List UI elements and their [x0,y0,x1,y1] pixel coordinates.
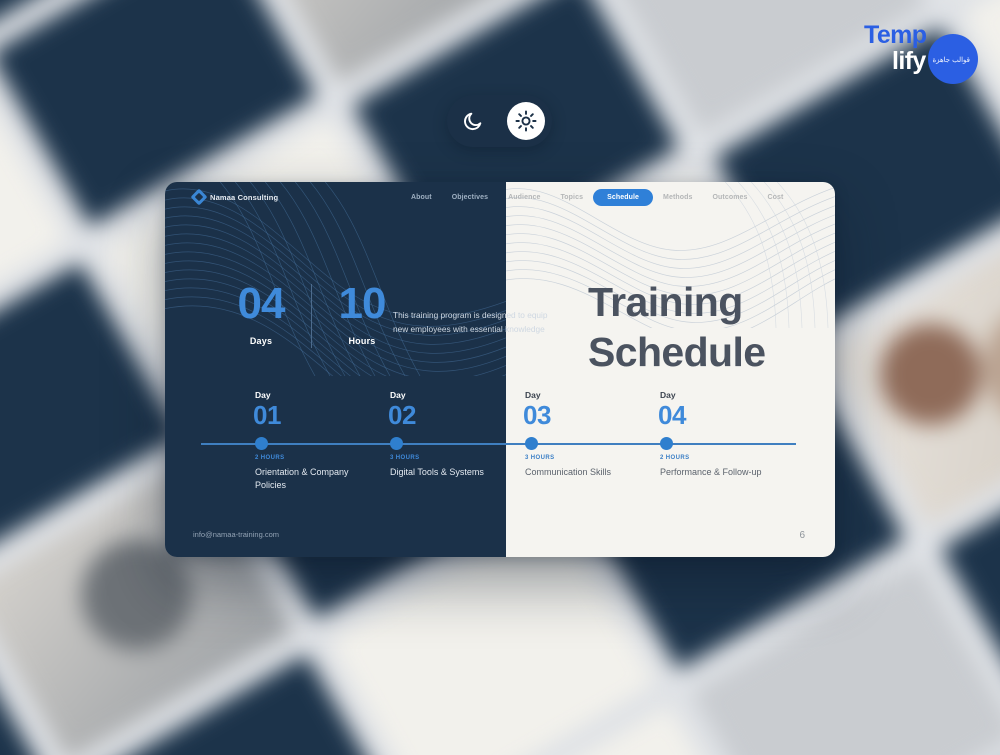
timeline-day-number: 03 [523,402,551,428]
theme-toggle[interactable] [447,95,552,147]
timeline-dot [660,437,673,450]
screenshot-stage: Temp lify قوالب جاهزة [0,0,1000,755]
slide-brand-name: Namaa Consulting [210,193,278,202]
timeline-title: Digital Tools & Systems [390,466,502,479]
moon-icon[interactable] [454,102,492,140]
timeline-title: Communication Skills [525,466,637,479]
stat-hours: 10 Hours [328,282,396,346]
timeline-day-number: 02 [388,402,416,428]
timeline-day-number: 04 [658,402,686,428]
timeline-day-label: Day [255,390,271,400]
slide-description: This training program is designed to equ… [393,308,563,336]
timeline-axis-light [506,443,796,445]
nav-item-audience[interactable]: Audience [498,190,550,205]
nav-item-outcomes[interactable]: Outcomes [703,190,758,205]
timeline-title: Orientation & Company Policies [255,466,367,491]
timeline-title: Performance & Follow-up [660,466,772,479]
stat-days-value: 04 [227,282,295,326]
slide-brand: Namaa Consulting [193,191,393,203]
nav-item-methods[interactable]: Methods [653,190,702,205]
timeline-hours: 2 HOURS [660,455,689,461]
page-title: Training Schedule [588,277,818,377]
slide-page-number: 6 [799,530,805,541]
stat-hours-value: 10 [328,282,396,326]
nav-item-cost[interactable]: Cost [758,190,794,205]
timeline-hours: 3 HOURS [525,455,554,461]
title-line-2: Schedule [588,329,765,375]
stat-days: 04 Days [227,282,295,346]
title-line-1: Training [588,279,743,325]
slide-contact-email[interactable]: info@namaa-training.com [193,530,279,539]
logo-word-top: Temp [864,21,926,50]
stat-hours-label: Hours [328,336,396,346]
timeline-day-label: Day [390,390,406,400]
timeline-day-label: Day [525,390,541,400]
timeline-hours: 2 HOURS [255,455,284,461]
logo-subtitle: قوالب جاهزة [932,56,970,64]
timeline-day-label: Day [660,390,676,400]
slide-stats: 04 Days 10 Hours [227,282,396,348]
timeline-dot [390,437,403,450]
sun-icon[interactable] [507,102,545,140]
nav-item-topics[interactable]: Topics [550,190,593,205]
timeline-hours: 3 HOURS [390,455,419,461]
stat-divider [311,284,312,348]
slide-navigation-bar: Namaa Consulting About Objectives Audien… [165,182,835,212]
nav-item-objectives[interactable]: Objectives [442,190,498,205]
timeline-dot [255,437,268,450]
training-timeline: Day 01 2 HOURS Orientation & Company Pol… [165,392,835,507]
slide-preview-card[interactable]: Training Schedule 6 Namaa Consulting Abo… [165,182,835,557]
nav-item-schedule[interactable]: Schedule [593,189,653,206]
templify-logo: Temp lify قوالب جاهزة [860,14,984,88]
slide-nav-items: About Objectives Audience Topics Schedul… [401,189,794,206]
diamond-logo-icon [191,189,208,206]
timeline-dot [525,437,538,450]
stat-days-label: Days [227,336,295,346]
timeline-day-number: 01 [253,402,281,428]
logo-word-bottom: lify [892,47,926,76]
timeline-axis-dark [201,443,506,445]
nav-item-about[interactable]: About [401,190,442,205]
